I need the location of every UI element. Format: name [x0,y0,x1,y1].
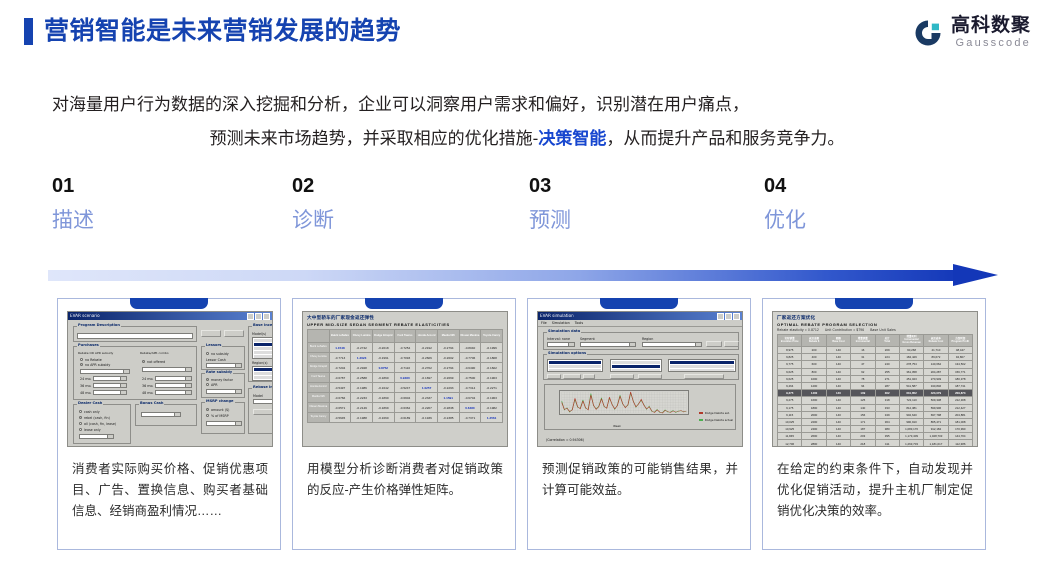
combo-term-36-field[interactable] [155,383,192,388]
opt-col-header: 方案利润Program Profit [948,335,972,347]
region-label: Region [642,337,653,341]
opt-cell: 9,175 [778,404,802,411]
opt-cell: 12,706 [778,440,802,447]
opt-cell: 1,263,703 [899,440,923,447]
card-predict[interactable]: EVAR simulation File Simulation Tools Si… [527,298,751,550]
regions-listbox[interactable] [252,366,273,381]
opt-title-cn: 厂家返还方案优化 [777,315,973,321]
card-tab [600,298,678,309]
opt-cell: 156 [851,411,875,418]
group-legend: Simulation data [547,329,581,333]
matrix-cell: -0.6362 [394,403,416,413]
matrix-col-header: Buick LeSabre [329,330,351,343]
start-button[interactable] [706,341,722,347]
opt-cell: 1000 [802,375,826,382]
matrix-cell: -0.7314 [459,383,481,393]
table-row: 9,62580014062255361,058204,287156,771 [778,368,973,375]
matrix-cell: -0.7713 [329,353,351,363]
card-tab [835,298,913,309]
opt-cell: 1,181,017 [924,440,948,447]
matrix-cell: -0.5247 [394,383,416,393]
stop-button[interactable] [724,341,739,347]
step-01-label: 描述 [52,210,252,231]
term-24-field[interactable] [93,376,127,381]
opt-cell: 94 [851,382,875,389]
opt-cell: 10,025 [778,418,802,425]
opt-cell: 10,925 [778,426,802,433]
opt-cell: 140 [851,404,875,411]
matrix-cell: -0.7110 [394,363,416,373]
clear-all-button[interactable] [638,374,662,379]
opt-cell: 1200 [802,382,826,389]
model-options-listbox[interactable] [610,359,662,372]
remove-button[interactable] [563,374,581,379]
matrix-cell: -0.2385 [437,413,459,423]
card-predict-caption: 预测促销政策的可能销售结果，并计算可能效益。 [542,459,738,501]
matrix-cell: -0.2271 [481,383,503,393]
opt-cell: 204,287 [924,368,948,375]
opt-cell: 1,173,409 [899,433,923,440]
close-button[interactable] [224,330,244,337]
opt-cell: 140 [826,404,850,411]
rebase-model-select[interactable] [253,399,273,404]
legend-estimated: Dodge Dakota est. [705,411,730,415]
step-02: 02 诊断 [292,176,492,231]
matrix-cell: -0.1988 [351,413,373,423]
matrix-col-header: Toyota Camry [481,330,503,343]
opt-cell: 400 [802,354,826,361]
opt-cell: 912,184 [924,426,948,433]
rate-subsidy-field[interactable] [206,389,242,394]
opt-cell: 318 [875,397,899,404]
opt-cell: 140 [826,418,850,425]
matrix-cell: -0.1903 [481,373,503,383]
opt-cell: 1800 [802,404,826,411]
bonus-cash-field[interactable] [141,412,181,417]
cards-row: EVAR scenario Program Description Base i… [0,298,1051,558]
table-row: 9,3751400140109302631,852423,079209,873 [778,390,973,397]
opt-cell: 62 [851,368,875,375]
opt-cell: 271 [875,375,899,382]
matrix-cell: -0.1996 [481,343,503,353]
matrix-cell: -0.1660 [372,413,394,423]
menu-file[interactable]: File [541,321,547,325]
opt-cell: 181,008 [948,418,972,425]
opt-cell: 270,949 [924,375,948,382]
purchase-combo[interactable] [80,369,130,374]
menu-tools[interactable]: Tools [575,321,583,325]
matrix-cell: -0.6766 [329,393,351,403]
opt-cell: 89,672 [924,354,948,361]
table-row: 9,1152000140156349902,640697,798204,881 [778,411,973,418]
opt-cell: 9,625 [778,375,802,382]
opt-cell: 9,775 [778,361,802,368]
models-listbox[interactable] [252,337,273,359]
opt-cell: 541,587 [899,382,923,389]
matrix-row-header: Dodge Intrepid [308,363,330,373]
matrix-title-en: UPPER MID-SIZE SEDAN SEGMENT REBATE ELAS… [307,322,503,327]
opt-cell: 349 [875,411,899,418]
opt-col-header: 增量毛利IncrementalGross Revenue [899,335,923,347]
opt-cell: 203 [851,433,875,440]
matrix-row-header: Chevy Lumina [308,353,330,363]
group-legend: Lessors [205,343,222,347]
opt-cell: 9,825 [778,354,802,361]
combo-term-48-field[interactable] [155,390,192,395]
lead-line-2-before: 预测未来市场趋势，并采取相应的优化措施- [210,129,539,148]
title-text: 营销智能是未来营销发展的趋势 [44,19,401,44]
opt-cell: 140 [826,426,850,433]
opt-cell: 78 [851,375,875,382]
group-legend: Program Description [77,323,121,327]
group-legend: Dealer Cash [77,401,103,405]
opt-col-header: 增量销量Incremental [851,335,875,347]
opt-cell: 212,308 [948,397,972,404]
opt-cell: 1600 [802,397,826,404]
step-02-number: 02 [292,176,492,196]
matrix-cell: 1.0257 [416,383,438,393]
opt-cell: 333 [875,404,899,411]
opt-cell: 140 [826,382,850,389]
matrix-cell: -0.2606 [416,353,438,363]
matrix-cell: -0.7254 [394,343,416,353]
region-select[interactable] [642,342,702,347]
matrix-cell: -0.7500 [459,373,481,383]
msrp-change-field[interactable] [206,421,242,426]
opt-cell: 451,023 [899,375,923,382]
matrix-row-header: Nissan Maxima [308,403,330,413]
opt-cell: 140 [826,361,850,368]
opt-cell: 2800 [802,440,826,447]
window-controls [247,313,270,320]
lead-highlight: 决策智能 [538,129,606,148]
matrix-title-cn: 大中型轿车的厂家现金返还弹性 [307,315,503,321]
matrix-cell: -0.6787 [329,373,351,383]
opt-col-header: 期限Base Cost [826,335,850,347]
opt-params: Rebate elasticity = 0.8712 Unit Contribu… [777,328,973,332]
brand-logo: 高科数聚 Gausscode [913,16,1031,49]
opt-cell: 170,990 [948,426,972,433]
clear-button[interactable] [253,409,273,415]
card-diagnose-screenshot: 大中型轿车的厂家现金返还弹性 UPPER MID-SIZE SEDAN SEGM… [302,311,508,447]
opt-cell: 47 [851,361,875,368]
opt-cell: 140 [826,397,850,404]
interval-select[interactable] [547,342,575,347]
matrix-cell: -0.1602 [481,363,503,373]
opt-col-header: 实际销量Incentive Price [778,335,802,347]
opt-cell: 134,502 [948,361,972,368]
matrix-cell: -0.1890 [372,393,394,403]
matrix-cell: -0.1642 [372,383,394,393]
opt-cell: 1,083,176 [899,426,923,433]
card-tab [130,298,208,309]
table-row: 9,2751600140125318722,110509,338212,308 [778,397,973,404]
opt-cell: 2000 [802,411,826,418]
group-legend: MSRP change [205,399,235,403]
group-legend: Rebase incentives [252,385,273,389]
step-03-label: 预测 [529,210,729,231]
matrix-col-header: Ford Taurus [394,330,416,343]
matrix-cell: -0.1936 [416,413,438,423]
window-controls [717,313,740,320]
lessor-cash-field[interactable] [206,363,242,368]
opt-cell: 278,754 [899,361,923,368]
table-row: 9,77560014047240278,754140,662134,502 [778,361,973,368]
opt-cell: 109 [851,390,875,397]
step-02-label: 诊断 [292,210,492,231]
matrix-cell: -0.2794 [437,363,459,373]
legend-actual: Dodge Dakota actual [705,418,733,422]
lead-line-2-after: ，从而提升产品和服务竞争力。 [606,129,844,148]
matrix-cell: -0.2207 [416,403,438,413]
opt-cell: 41,710 [924,347,948,354]
add-button[interactable] [547,374,561,379]
opt-cell: 722,110 [899,397,923,404]
arrow-head-icon [953,264,998,286]
opt-cell: 990,910 [899,418,923,425]
card-predict-screenshot: EVAR simulation File Simulation Tools Si… [537,311,743,447]
card-optimize-caption: 在给定的约束条件下，自动发现并优化促销活动，提升主机厂制定促销优化决策的效率。 [777,459,973,522]
card-tab [365,298,443,309]
table-row: 12,70628001402184111,263,7031,181,017112… [778,440,973,447]
opt-cell: 180,378 [948,375,972,382]
table-row: 9,464120014094287541,587340,846187,741 [778,382,973,389]
term-36-field[interactable] [93,383,127,388]
opt-cell: 209,873 [948,390,972,397]
card-diagnose[interactable]: 大中型轿车的厂家现金返还弹性 UPPER MID-SIZE SEDAN SEGM… [292,298,516,550]
opt-cell: 9,625 [778,368,802,375]
opt-cell: 697,798 [924,411,948,418]
window-title: EVAR simulation [540,314,574,319]
title-accent-bar [24,18,33,45]
opt-cell: 90,268 [899,347,923,354]
edit-button[interactable] [583,374,595,379]
opt-cell: 112,386 [948,440,972,447]
matrix-cell: -0.8040 [459,343,481,353]
opt-cell: 140 [826,433,850,440]
menu-bar[interactable]: File Simulation Tools [538,320,742,327]
opt-cell: 11,845 [778,433,802,440]
matrix-cell: 1.1548 [329,343,351,353]
matrix-cell: -0.2928 [351,363,373,373]
step-04-number: 04 [764,176,964,196]
matrix-cell: -0.1991 [372,353,394,363]
opt-col-header: 返还金额Rebate $ [802,335,826,347]
step-04: 04 优化 [764,176,964,231]
window-title: EVAR scenario [70,314,100,319]
matrix-row-header: Toyota Camry [308,413,330,423]
table-row: 11,84526001402033951,173,4091,028,703144… [778,433,973,440]
opt-cell: 395 [875,433,899,440]
matrix-cell: -0.2337 [416,393,438,403]
step-04-label: 优化 [764,210,964,231]
simulation-chart [559,390,689,415]
opt-cell: 200 [802,347,826,354]
opt-title-en: OPTIMAL REBATE PROGRAM SELECTION [777,322,973,327]
metric-options-listbox[interactable] [668,359,736,372]
scenario-listbox[interactable] [547,359,603,372]
card-describe-screenshot: EVAR scenario Program Description Base i… [67,311,273,447]
group-legend: Simulation options [547,351,587,355]
matrix-cell: -0.1869 [372,403,394,413]
card-optimize-screenshot: 厂家返还方案优化 OPTIMAL REBATE PROGRAM SELECTIO… [772,311,978,447]
opt-cell: 140 [826,411,850,418]
matrix-cell: 0.9480 [394,373,416,383]
group-legend: Purchases [77,343,100,347]
opt-cell: 125 [851,397,875,404]
matrix-cell: -0.2588 [351,373,373,383]
table-row: 9,1751800140140333812,381599,906212,427 [778,404,973,411]
table-row: Ford Taurus-0.6787-0.2588-0.18600.9480-0… [308,373,503,383]
group-legend: Base incentives [252,323,273,327]
matrix-cell: -0.2838 [437,403,459,413]
matrix-header-row: Buick LeSabreChevy LuminaDodge IntrepidF… [308,330,503,343]
matrix-cell: -0.1986 [351,383,373,393]
table-row: 9,625100014078271451,023270,949180,378 [778,375,973,382]
opt-cell: 187 [851,426,875,433]
correlation-note: (Correlation = 0.94306) [546,438,584,442]
opt-cell: 631,852 [899,390,923,397]
opt-cell: 509,338 [924,397,948,404]
opt-cell: 255 [875,368,899,375]
opt-cell: 9,115 [778,411,802,418]
opt-cell: 140 [826,440,850,447]
opt-cell: 209 [875,347,899,354]
matrix-col-header: Chevy Lumina [351,330,373,343]
graph-button[interactable] [684,374,724,379]
opt-cell: 600 [802,361,826,368]
opt-col-header: 总计Total [875,335,899,347]
step-03-number: 03 [529,176,729,196]
opt-cell: 2600 [802,433,826,440]
card-optimize[interactable]: 厂家返还方案优化 OPTIMAL REBATE PROGRAM SELECTIO… [762,298,986,550]
results-panel: Dodge Dakota est. Dodge Dakota actual We… [544,384,736,430]
opt-cell: 140 [826,354,850,361]
group-legend: Rate subsidy [205,370,233,374]
matrix-row-header: Mazda 626 [308,393,330,403]
opt-cell: 140 [826,368,850,375]
opt-cell: 140,662 [924,361,948,368]
table-row: Mazda 626-0.6766-0.2233-0.1890-0.6904-0.… [308,393,503,403]
save-button[interactable] [201,330,221,337]
matrix-cell: -0.7706 [459,353,481,363]
matrix-cell: -0.2702 [416,363,438,373]
opt-cell: 140 [826,375,850,382]
dealer-cash-field[interactable] [79,434,114,439]
segment-label: Segment [580,337,595,341]
matrix-row-header: Honda Accord [308,383,330,393]
matrix-cell: -0.6189 [394,413,416,423]
combo-term-24-field[interactable] [155,376,192,381]
opt-cell: 171 [851,418,875,425]
opt-cell: 144,704 [948,433,972,440]
logo-name-en: Gausscode [951,38,1031,49]
matrix-cell: -0.2192 [416,343,438,353]
table-row: 10,0252200140171364990,910865,471181,008 [778,418,973,425]
opt-cell: 1,028,703 [924,433,948,440]
term-48-field[interactable] [93,390,127,395]
menu-simulation[interactable]: Simulation [552,321,570,325]
elasticity-matrix: Buick LeSabreChevy LuminaDodge IntrepidF… [307,329,503,423]
matrix-cell: 0.6480 [459,403,481,413]
matrix-cell: 1.1591 [437,393,459,403]
table-row: 9,82540014031224184,42989,67294,807 [778,354,973,361]
chart-legend: Dodge Dakota est. Dodge Dakota actual [699,411,733,422]
matrix-cell: -0.1982 [481,403,503,413]
opt-cell: 212,427 [948,404,972,411]
interval-label: Interval: none [547,337,570,341]
opt-cell: 184,429 [899,354,923,361]
opt-cell: 224 [875,354,899,361]
opt-cell: 16 [851,347,875,354]
step-01-number: 01 [52,176,252,196]
lead-line-1: 对海量用户行为数据的深入挖掘和分析，企业可以洞察用户需求和偏好，识别潜在用户痛点… [52,88,1002,122]
matrix-cell: -0.2149 [351,403,373,413]
matrix-col-header: Nissan Maxima [459,330,481,343]
opt-cell: 423,079 [924,390,948,397]
opt-col-header: 返还成本Rebate Cost [924,335,948,347]
matrix-cell: -0.7093 [394,353,416,363]
opt-cell: 380 [875,426,899,433]
opt-cell: 240 [875,361,899,368]
matrix-cell: -0.5645 [329,413,351,423]
card-diagnose-caption: 用模型分析诊断消费者对促销政策的反应-产生价格弹性矩阵。 [307,459,503,501]
group-legend: Bonus Cash [139,401,164,405]
page-title: 营销智能是未来营销发展的趋势 [24,18,401,45]
opt-cell: 2400 [802,426,826,433]
matrix-row-header: Buick LeSabre [308,343,330,353]
table-row: Toyota Camry-0.5645-0.1988-0.1660-0.6189… [308,413,503,423]
matrix-cell: -0.1697 [416,373,438,383]
select-all-button[interactable] [610,374,634,379]
gausscode-logo-icon [913,18,943,48]
matrix-cell: -0.2018 [372,343,394,353]
opt-param-contribution: Unit Contribution = $796 [825,328,864,332]
opt-cell: 599,906 [924,404,948,411]
opt-param-elasticity: Rebate elasticity = 0.8712 [777,328,819,332]
opt-cell: 48,447 [948,347,972,354]
matrix-col-header: Honda Accord [416,330,438,343]
opt-cell: 8,975 [778,347,802,354]
card-describe[interactable]: EVAR scenario Program Description Base i… [57,298,281,550]
opt-cell: 2200 [802,418,826,425]
opt-cell: 204,881 [948,411,972,418]
opt-cell: 812,381 [899,404,923,411]
matrix-cell: 1.2623 [351,353,373,363]
table-row: Chevy Lumina-0.77131.2623-0.1991-0.7093-… [308,353,503,363]
chart-xlabel: Week [545,424,689,428]
combo-select[interactable] [142,367,192,372]
matrix-cell: -0.2669 [437,373,459,383]
opt-cell: 340,846 [924,382,948,389]
matrix-cell: -0.7204 [329,363,351,373]
opt-cell: 9,375 [778,390,802,397]
opt-cell: 9,275 [778,397,802,404]
matrix-col-header: Mazda 626 [437,330,459,343]
opt-cell: 218 [851,440,875,447]
opt-cell: 902,640 [899,411,923,418]
matrix-cell: -0.6490 [459,363,481,373]
opt-cell: 31 [851,354,875,361]
matrix-cell: -0.2742 [351,343,373,353]
arrow-shaft [48,270,963,281]
matrix-cell: 0.8752 [372,363,394,373]
opt-cell: 1400 [802,390,826,397]
table-row: 8,9752001401620990,26841,71048,447 [778,347,973,354]
segment-select[interactable] [580,342,636,347]
matrix-cell: -0.5497 [329,383,351,393]
opt-cell: 156,771 [948,368,972,375]
